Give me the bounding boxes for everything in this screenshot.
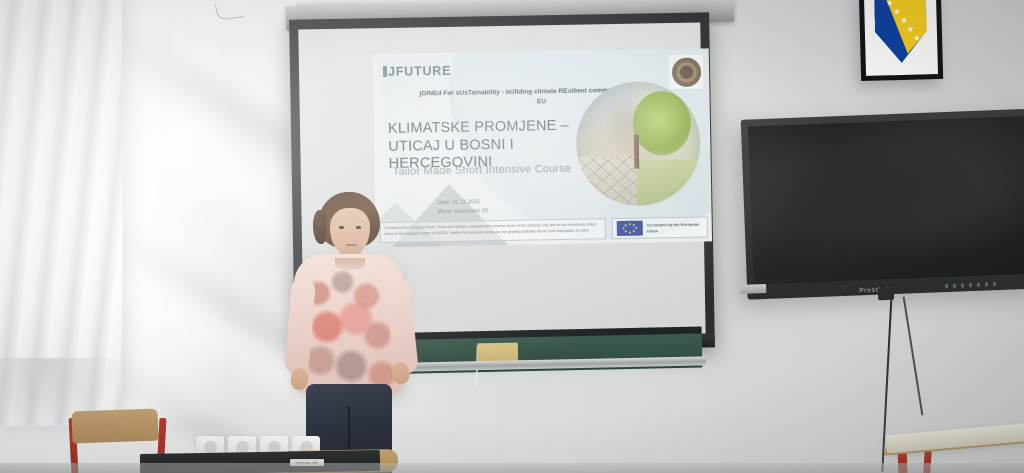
- slide-meta: Date: 01.11.2025 Place: classroom 33: [437, 198, 488, 217]
- display-panel: [748, 116, 1024, 285]
- university-seal-icon: [669, 54, 704, 89]
- presenter-face: [330, 208, 370, 256]
- presenter-collar: [335, 258, 365, 270]
- logo-bar-icon: [383, 66, 387, 77]
- presenter-person: [278, 192, 418, 473]
- slide-place: Place: classroom 33: [437, 207, 488, 217]
- display-control-keys[interactable]: [945, 282, 1001, 288]
- eu-funding-label: Co-funded by the European Union: [647, 222, 703, 234]
- coat-of-arms-mat: [864, 0, 938, 76]
- window-curtain: [0, 0, 122, 426]
- project-logo-text: JFUTURE: [388, 64, 451, 79]
- presenter-eye: [339, 226, 344, 229]
- presenter-mouth: [346, 244, 357, 246]
- bosnia-coat-of-arms-icon: [874, 0, 928, 64]
- seal-ring: [671, 57, 701, 87]
- presenter-eye: [356, 226, 361, 229]
- floor: [0, 463, 1024, 473]
- eu-funding-badge: Co-funded by the European Union: [612, 216, 708, 239]
- project-logo: JFUTURE: [383, 64, 451, 79]
- eu-flag-icon: [617, 221, 643, 236]
- green-grass-ground: [636, 160, 701, 206]
- presentation-slide: JFUTURE jOINEd For sUsTainability - bUIl…: [373, 48, 712, 247]
- wall-display[interactable]: Prestigio: [741, 108, 1024, 299]
- eu-stars: [617, 221, 643, 236]
- shield-stars: [874, 0, 928, 64]
- coat-of-arms-frame: [859, 0, 943, 81]
- classroom-photo-scene: JFUTURE jOINEd For sUsTainability - bUIl…: [0, 0, 1024, 473]
- tree-trunk: [633, 134, 639, 168]
- green-canopy: [632, 91, 691, 156]
- window-glow: [112, 0, 232, 420]
- display-ir-sensor-icon: [740, 284, 766, 294]
- chair-backrest: [71, 409, 158, 444]
